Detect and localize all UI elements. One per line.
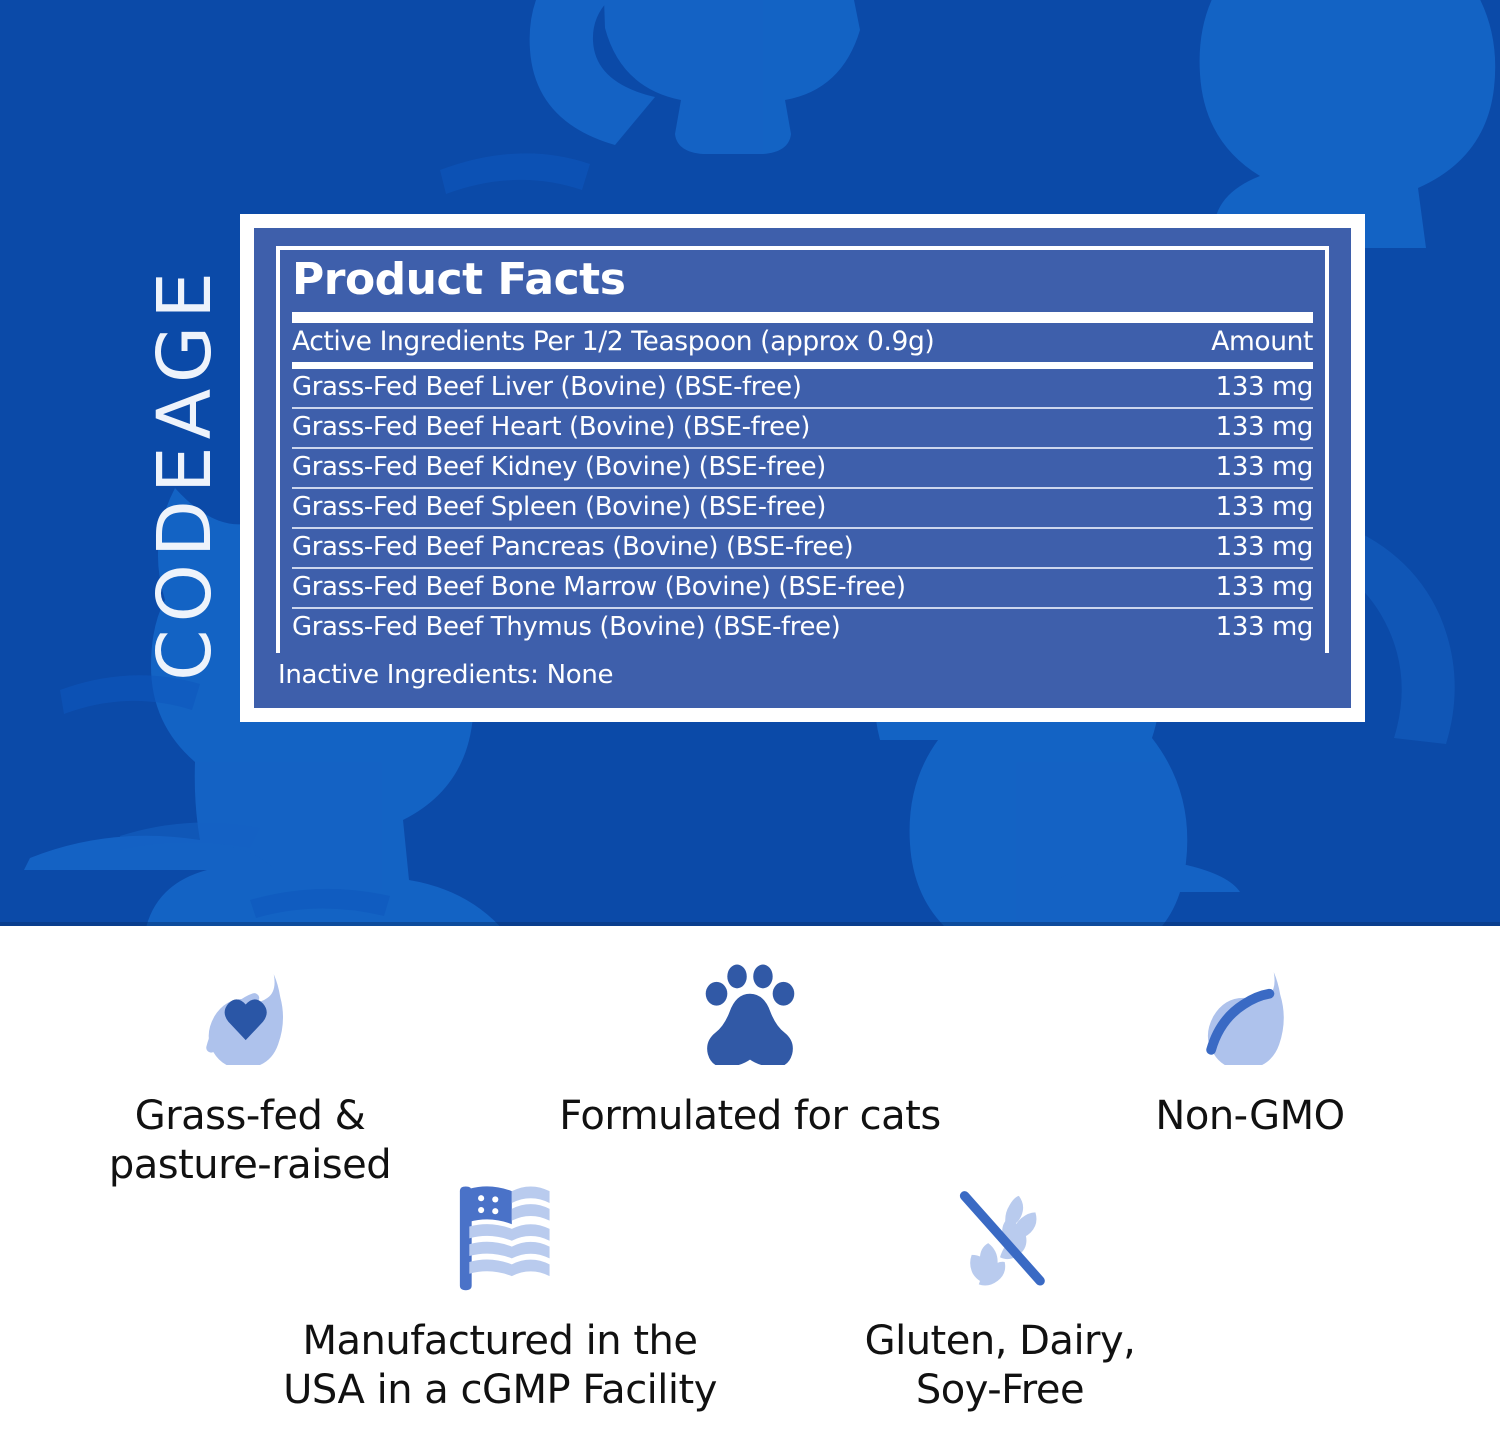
ingredient-amount: 133 mg — [1216, 532, 1313, 562]
ingredient-amount: 133 mg — [1216, 412, 1313, 442]
divider-thick-top — [292, 312, 1313, 323]
hero-section: CODEAGE Product Facts Active Ingredients… — [0, 0, 1500, 926]
ingredient-amount: 133 mg — [1216, 372, 1313, 402]
ingredient-name: Grass-Fed Beef Liver (Bovine) (BSE-free) — [292, 372, 801, 402]
ingredient-name: Grass-Fed Beef Pancreas (Bovine) (BSE-fr… — [292, 532, 853, 562]
serving-size-label: Active Ingredients Per 1/2 Teaspoon (app… — [292, 326, 934, 357]
divider-below-header — [292, 362, 1313, 369]
table-row: Grass-Fed Beef Pancreas (Bovine) (BSE-fr… — [280, 529, 1325, 567]
benefit-formulated-for-cats: Formulated for cats — [500, 956, 1000, 1190]
benefit-label: Grass-fed &pasture-raised — [109, 1092, 391, 1190]
ingredient-amount: 133 mg — [1216, 452, 1313, 482]
brand-wordmark: CODEAGE — [142, 238, 228, 708]
ingredient-amount: 133 mg — [1216, 492, 1313, 522]
paw-print-icon — [696, 956, 804, 1066]
benefit-allergen-free: Gluten, Dairy,Soy-Free — [750, 1181, 1250, 1415]
table-row: Grass-Fed Beef Thymus (Bovine) (BSE-free… — [280, 609, 1325, 647]
ingredient-name: Grass-Fed Beef Kidney (Bovine) (BSE-free… — [292, 452, 826, 482]
benefit-made-in-usa: Manufactured in theUSA in a cGMP Facilit… — [250, 1181, 750, 1415]
leaf-icon — [1196, 956, 1304, 1066]
ingredient-name: Grass-Fed Beef Thymus (Bovine) (BSE-free… — [292, 612, 840, 642]
product-facts-table: Product Facts Active Ingredients Per 1/2… — [276, 246, 1329, 653]
ingredient-amount: 133 mg — [1216, 612, 1313, 642]
leaf-heart-icon — [196, 956, 304, 1066]
table-row: Grass-Fed Beef Liver (Bovine) (BSE-free)… — [280, 369, 1325, 407]
product-facts-panel: Product Facts Active Ingredients Per 1/2… — [254, 228, 1351, 708]
ingredient-name: Grass-Fed Beef Bone Marrow (Bovine) (BSE… — [292, 572, 906, 602]
ingredient-name: Grass-Fed Beef Spleen (Bovine) (BSE-free… — [292, 492, 826, 522]
benefits-row-1: Grass-fed &pasture-raised Formulated for… — [0, 956, 1500, 1190]
benefit-label: Non-GMO — [1155, 1092, 1344, 1141]
benefit-label: Formulated for cats — [559, 1092, 940, 1141]
benefit-label: Manufactured in theUSA in a cGMP Facilit… — [283, 1317, 717, 1415]
benefit-non-gmo: Non-GMO — [1000, 956, 1500, 1190]
table-header-row: Active Ingredients Per 1/2 Teaspoon (app… — [280, 323, 1325, 362]
table-row: Grass-Fed Beef Kidney (Bovine) (BSE-free… — [280, 449, 1325, 487]
benefits-row-2: Manufactured in theUSA in a cGMP Facilit… — [0, 1181, 1500, 1415]
amount-column-header: Amount — [1211, 326, 1313, 357]
table-row: Grass-Fed Beef Heart (Bovine) (BSE-free)… — [280, 409, 1325, 447]
table-row: Grass-Fed Beef Spleen (Bovine) (BSE-free… — [280, 489, 1325, 527]
benefits-section: Grass-fed &pasture-raised Formulated for… — [0, 926, 1500, 1450]
product-label-page: CODEAGE Product Facts Active Ingredients… — [0, 0, 1500, 1450]
product-facts-card: Product Facts Active Ingredients Per 1/2… — [240, 214, 1365, 722]
product-facts-title: Product Facts — [280, 250, 1325, 312]
usa-flag-icon — [441, 1181, 559, 1291]
ingredient-amount: 133 mg — [1216, 572, 1313, 602]
benefit-label: Gluten, Dairy,Soy-Free — [865, 1317, 1136, 1415]
ingredient-name: Grass-Fed Beef Heart (Bovine) (BSE-free) — [292, 412, 810, 442]
benefit-grass-fed: Grass-fed &pasture-raised — [0, 956, 500, 1190]
no-wheat-icon — [941, 1181, 1059, 1291]
inactive-ingredients-text: Inactive Ingredients: None — [276, 653, 1329, 690]
table-row: Grass-Fed Beef Bone Marrow (Bovine) (BSE… — [280, 569, 1325, 607]
